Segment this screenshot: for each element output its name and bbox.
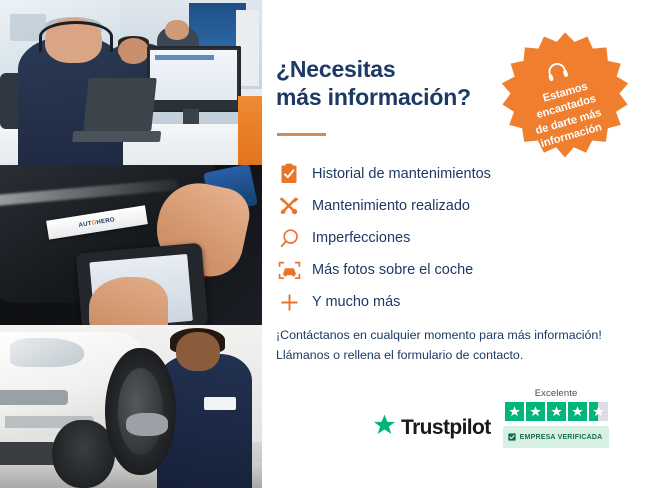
photo2-ruler-brand: AUTOHERO [78, 217, 115, 229]
star-filled [526, 402, 545, 421]
photo1-orange-shelf [238, 96, 262, 165]
support-starburst-badge: Estamos encantados de darte más informac… [497, 31, 633, 167]
photo1-headset [39, 21, 113, 52]
photo3-uniform-badge [204, 397, 235, 410]
trustpilot-star-icon [372, 413, 397, 442]
feature-item-imperfections: Imperfecciones [276, 222, 636, 254]
contact-copy-line-2: Llámanos o rellena el formulario de cont… [276, 345, 644, 365]
feature-label: Mantenimiento realizado [312, 198, 470, 214]
photo-strip: AUTOHERO [0, 0, 262, 488]
magnifier-icon [276, 225, 302, 251]
ruler-brand-left: AUT [78, 220, 92, 228]
photo3-grille-upper [0, 390, 68, 405]
contact-copy-line-1: ¡Contáctanos en cualquier momento para m… [276, 325, 644, 345]
photo3-glove [126, 413, 168, 436]
trustpilot-rating-label: Excelente [535, 388, 578, 399]
verified-label: EMPRESA VERIFICADA [520, 434, 603, 441]
headline-line-1: ¿Necesitas [276, 55, 516, 83]
title-underline-rule [277, 133, 326, 136]
mechanic-wheel-inspection-photo [0, 325, 262, 488]
feature-label: Más fotos sobre el coche [312, 262, 473, 278]
photo1-monitor [147, 46, 241, 112]
trustpilot-logo: Trustpilot [372, 413, 491, 448]
car-inspection-ruler-tablet-photo: AUTOHERO [0, 165, 262, 325]
star-filled [568, 402, 587, 421]
badge-text: Estamos encantados de darte más informac… [529, 77, 610, 150]
photo2-hand-lower [89, 277, 168, 325]
call-center-agents-photo [0, 0, 262, 165]
promo-banner: AUTOHERO ¿Necesitas [0, 0, 650, 488]
contact-copy: ¡Contáctanos en cualquier momento para m… [276, 325, 644, 365]
ruler-brand-right: HERO [96, 217, 115, 226]
photo3-mechanic-head [176, 332, 221, 371]
page-title: ¿Necesitas más información? [276, 55, 516, 111]
star-filled [547, 402, 566, 421]
feature-item-more-photos: Más fotos sobre el coche [276, 254, 636, 286]
photo1-laptop [84, 78, 158, 131]
trustpilot-wordmark: Trustpilot [401, 416, 491, 440]
verified-business-badge: EMPRESA VERIFICADA [503, 426, 610, 448]
photo1-head-back [165, 20, 189, 40]
plus-icon [276, 289, 302, 315]
photo3-front-wheel [105, 348, 176, 475]
photo3-headlight [10, 338, 83, 367]
feature-item-much-more: Y mucho más [276, 286, 636, 318]
feature-label: Y mucho más [312, 294, 400, 310]
feature-list: Historial de mantenimientos M [276, 158, 636, 318]
trustpilot-rating-block[interactable]: Trustpilot Excelente [372, 388, 609, 448]
feature-item-maintenance-done: Mantenimiento realizado [276, 190, 636, 222]
verified-check-icon [508, 428, 516, 446]
clipboard-check-icon [276, 161, 302, 187]
crossed-tools-icon [276, 193, 302, 219]
headline-line-2: más información? [276, 83, 516, 111]
trustpilot-score: Excelente [503, 388, 610, 448]
feature-label: Imperfecciones [312, 230, 410, 246]
star-half [589, 402, 608, 421]
trustpilot-stars [505, 402, 608, 421]
car-photo-frame-icon [276, 257, 302, 283]
star-filled [505, 402, 524, 421]
feature-label: Historial de mantenimientos [312, 166, 491, 182]
photo3-bumper-shadow [0, 442, 58, 465]
